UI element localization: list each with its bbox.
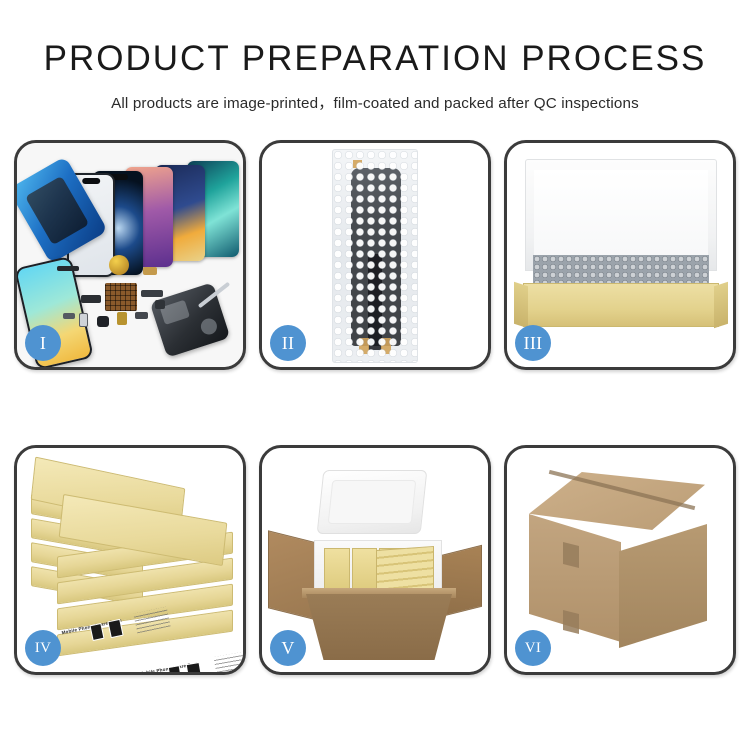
kraft-box-base: [523, 283, 719, 327]
step-badge-3: III: [515, 325, 551, 361]
carton-body: [306, 594, 452, 660]
chip-grid-icon: [105, 283, 137, 311]
process-step-2[interactable]: II: [259, 140, 491, 370]
battery-connector-part: [57, 266, 79, 271]
spare-part: [79, 313, 88, 327]
spare-part: [117, 312, 127, 325]
step-badge-2: II: [270, 325, 306, 361]
header: PRODUCT PREPARATION PROCESS All products…: [0, 0, 750, 113]
process-step-grid: I II III: [14, 140, 736, 675]
process-step-6[interactable]: VI: [504, 445, 736, 675]
product-preparation-infographic: PRODUCT PREPARATION PROCESS All products…: [0, 0, 750, 750]
process-step-4[interactable]: Mobile Phone Spare Parts Mobile Phone Sp…: [14, 445, 246, 675]
notch-icon: [82, 178, 100, 184]
spare-part: [143, 267, 157, 275]
speaker-coil-icon: [109, 255, 129, 275]
step-badge-5: V: [270, 630, 306, 666]
carton-side-face: [619, 524, 707, 648]
process-step-1[interactable]: I: [14, 140, 246, 370]
step-badge-6: VI: [515, 630, 551, 666]
step-badge-4: IV: [25, 630, 61, 666]
carton-top-face: [529, 472, 705, 530]
process-step-5[interactable]: V: [259, 445, 491, 675]
spare-part: [155, 300, 165, 309]
screen-thumbnail: [186, 662, 203, 672]
spare-part: [81, 295, 101, 303]
spare-part: [63, 313, 75, 319]
bubble-texture: [333, 150, 417, 362]
foam-lid: [317, 470, 428, 534]
bubble-wrap-pouch: [332, 149, 418, 363]
spare-part: [141, 290, 163, 297]
page-title: PRODUCT PREPARATION PROCESS: [0, 40, 750, 79]
step-badge-1: I: [25, 325, 61, 361]
process-step-3[interactable]: III: [504, 140, 736, 370]
page-subtitle: All products are image-printed，film-coat…: [0, 91, 750, 113]
carton-tape: [563, 542, 579, 568]
carton-tape: [563, 610, 579, 634]
spare-part: [135, 312, 148, 319]
spare-part: [97, 316, 109, 327]
